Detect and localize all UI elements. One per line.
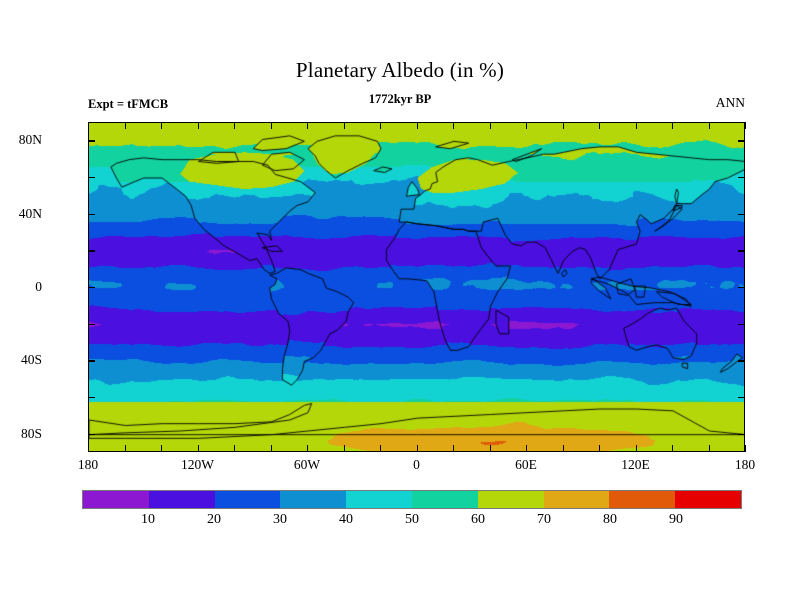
- albedo-figure: Planetary Albedo (in %) 1772kyr BP Expt …: [0, 0, 800, 600]
- axis-tick: [672, 445, 673, 452]
- axis-tick: [636, 445, 637, 452]
- axis-tick: [307, 445, 308, 452]
- axis-tick: [709, 122, 710, 129]
- axis-tick: [453, 445, 454, 452]
- axis-tick: [234, 445, 235, 452]
- axis-tick: [234, 122, 235, 129]
- axis-tick: [88, 445, 89, 452]
- page-title: Planetary Albedo (in %): [0, 58, 800, 83]
- axis-tick: [198, 122, 199, 129]
- x-axis-label-0: 0: [377, 457, 457, 473]
- axis-tick: [344, 445, 345, 452]
- axis-tick: [636, 122, 637, 129]
- axis-tick: [88, 214, 95, 215]
- axis-tick: [563, 445, 564, 452]
- season-label: ANN: [716, 95, 745, 111]
- colorbar-band-20-30: [215, 491, 281, 508]
- x-axis-label-60W: 60W: [267, 457, 347, 473]
- colorbar-tick-60: 60: [448, 512, 508, 528]
- axis-tick: [380, 122, 381, 129]
- colorbar-tick-10: 10: [118, 512, 178, 528]
- axis-tick: [161, 122, 162, 129]
- map-plot-area: [88, 122, 745, 452]
- axis-tick: [738, 434, 745, 435]
- colorbar-band-30-40: [280, 491, 346, 508]
- axis-tick: [526, 445, 527, 452]
- axis-tick: [88, 434, 95, 435]
- albedo-map-canvas: [89, 123, 745, 452]
- axis-tick: [745, 122, 746, 129]
- axis-tick: [738, 360, 745, 361]
- axis-tick: [88, 397, 95, 398]
- colorbar: [82, 490, 742, 509]
- colorbar-band-70-80: [544, 491, 610, 508]
- colorbar-band-50-60: [412, 491, 478, 508]
- axis-tick: [417, 122, 418, 129]
- axis-tick: [417, 445, 418, 452]
- axis-tick: [198, 445, 199, 452]
- y-axis-label-80S: 80S: [0, 426, 42, 442]
- x-axis-label-180: 180: [48, 457, 128, 473]
- x-axis-label-120W: 120W: [158, 457, 238, 473]
- axis-tick: [738, 324, 745, 325]
- axis-tick: [271, 445, 272, 452]
- axis-tick: [307, 122, 308, 129]
- y-axis-label-80N: 80N: [0, 132, 42, 148]
- x-axis-label-60E: 60E: [486, 457, 566, 473]
- axis-tick: [453, 122, 454, 129]
- colorbar-tick-90: 90: [646, 512, 706, 528]
- axis-tick: [738, 250, 745, 251]
- x-axis-label-120E: 120E: [596, 457, 676, 473]
- y-axis-label-0: 0: [0, 279, 42, 295]
- axis-tick: [380, 445, 381, 452]
- colorbar-band-60-70: [478, 491, 544, 508]
- axis-tick: [709, 445, 710, 452]
- colorbar-band-90-100: [675, 491, 741, 508]
- axis-tick: [125, 122, 126, 129]
- axis-tick: [672, 122, 673, 129]
- axis-tick: [490, 122, 491, 129]
- colorbar-band-80-90: [609, 491, 675, 508]
- axis-tick: [88, 287, 95, 288]
- axis-tick: [738, 177, 745, 178]
- axis-tick: [563, 122, 564, 129]
- axis-tick: [88, 360, 95, 361]
- axis-tick: [490, 445, 491, 452]
- axis-tick: [738, 397, 745, 398]
- experiment-label: Expt = tFMCB: [88, 97, 168, 112]
- axis-tick: [125, 445, 126, 452]
- colorbar-band-10-20: [149, 491, 215, 508]
- axis-tick: [738, 214, 745, 215]
- axis-tick: [88, 122, 89, 129]
- axis-tick: [88, 140, 95, 141]
- colorbar-tick-80: 80: [580, 512, 640, 528]
- axis-tick: [738, 140, 745, 141]
- colorbar-tick-20: 20: [184, 512, 244, 528]
- axis-tick: [738, 287, 745, 288]
- x-axis-label-180: 180: [705, 457, 785, 473]
- y-axis-label-40S: 40S: [0, 352, 42, 368]
- colorbar-band-40-50: [346, 491, 412, 508]
- colorbar-tick-30: 30: [250, 512, 310, 528]
- colorbar-tick-70: 70: [514, 512, 574, 528]
- colorbar-tick-50: 50: [382, 512, 442, 528]
- axis-tick: [161, 445, 162, 452]
- axis-tick: [599, 445, 600, 452]
- y-axis-label-40N: 40N: [0, 206, 42, 222]
- axis-tick: [599, 122, 600, 129]
- axis-tick: [344, 122, 345, 129]
- colorbar-band-0-10: [83, 491, 149, 508]
- axis-tick: [88, 177, 95, 178]
- axis-tick: [745, 445, 746, 452]
- colorbar-tick-40: 40: [316, 512, 376, 528]
- axis-tick: [271, 122, 272, 129]
- axis-tick: [526, 122, 527, 129]
- axis-tick: [88, 324, 95, 325]
- axis-tick: [88, 250, 95, 251]
